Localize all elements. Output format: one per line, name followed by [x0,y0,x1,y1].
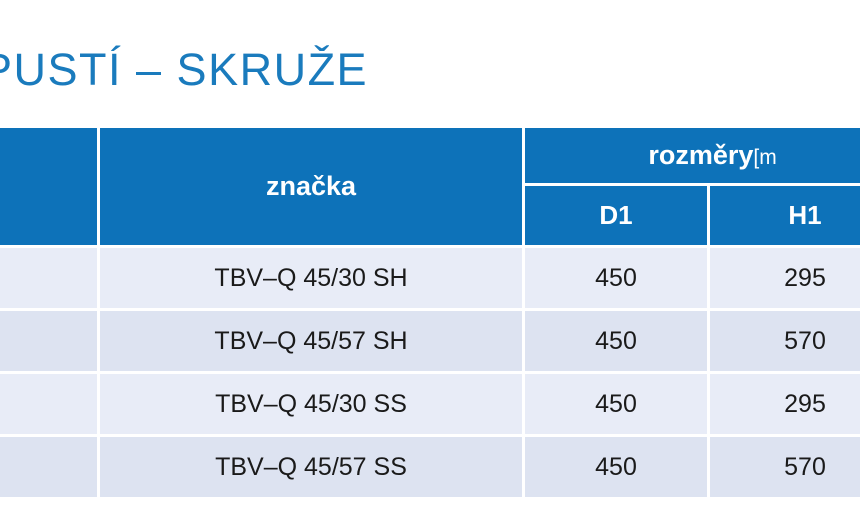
table-header-row-1: značka rozměry[m [0,128,860,186]
table-row: TBV–Q 45/30 SH 450 295 [0,248,860,311]
page-title: PUSTÍ – SKRUŽE [0,44,368,96]
cell-mark: TBV–Q 45/57 SH [100,311,525,374]
cell-h1: 570 [710,311,860,374]
cell-col1 [0,437,100,500]
cell-mark: TBV–Q 45/30 SH [100,248,525,311]
table-body: TBV–Q 45/30 SH 450 295 TBV–Q 45/57 SH 45… [0,248,860,500]
table-row: TBV–Q 45/30 SS 450 295 [0,374,860,437]
cell-d1: 450 [525,374,710,437]
cell-col1 [0,311,100,374]
header-group-label: rozměry [648,140,753,170]
header-d1: D1 [525,186,710,248]
cell-h1: 295 [710,374,860,437]
table-head: značka rozměry[m D1 H1 [0,128,860,248]
header-mark: značka [100,128,525,248]
table-row: TBV–Q 45/57 SS 450 570 [0,437,860,500]
cell-d1: 450 [525,248,710,311]
document-page: PUSTÍ – SKRUŽE značka rozměry[m D1 [0,0,860,524]
header-group-unit: [m [753,146,776,169]
cell-mark: TBV–Q 45/57 SS [100,437,525,500]
cell-d1: 450 [525,437,710,500]
header-group-dimensions: rozměry[m [525,128,860,186]
cell-col1 [0,248,100,311]
cell-d1: 450 [525,311,710,374]
cell-h1: 295 [710,248,860,311]
cell-mark: TBV–Q 45/30 SS [100,374,525,437]
cell-col1 [0,374,100,437]
header-col1 [0,128,100,248]
table-row: TBV–Q 45/57 SH 450 570 [0,311,860,374]
header-h1: H1 [710,186,860,248]
cell-h1: 570 [710,437,860,500]
spec-table-container: značka rozměry[m D1 H1 TBV–Q 45/30 SH 45… [0,128,860,500]
spec-table: značka rozměry[m D1 H1 TBV–Q 45/30 SH 45… [0,128,860,500]
